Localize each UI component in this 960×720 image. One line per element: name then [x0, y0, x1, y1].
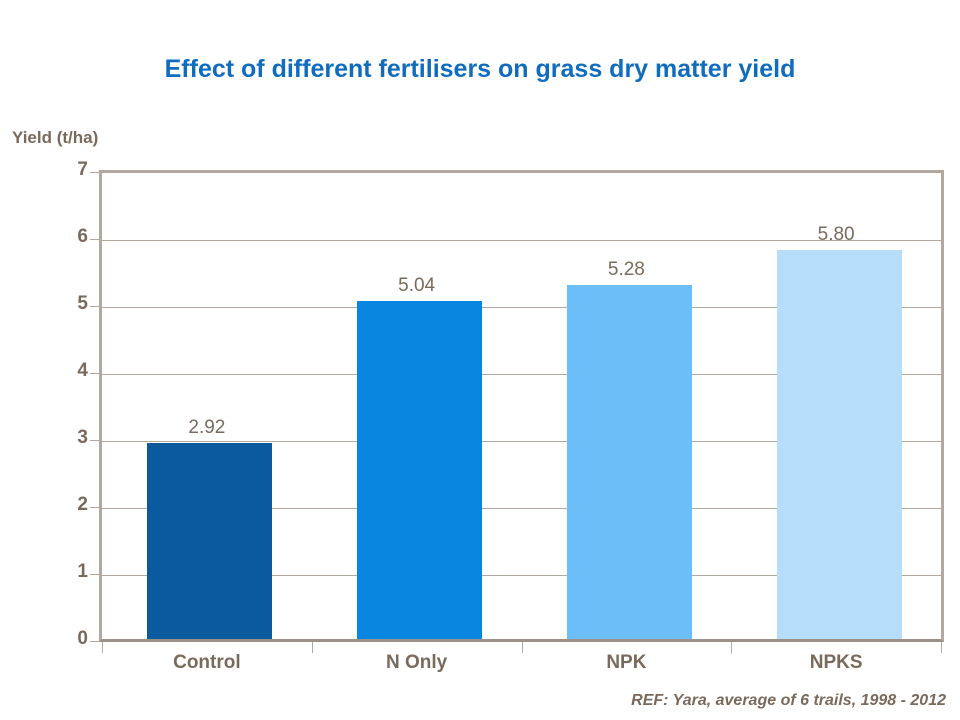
- bar[interactable]: [147, 443, 272, 639]
- y-axis-tick-mark: [90, 440, 99, 441]
- bar[interactable]: [357, 301, 482, 639]
- y-axis-tick-mark: [90, 172, 99, 173]
- y-axis-tick-mark: [90, 574, 99, 575]
- y-axis-tick-label: 3: [20, 427, 88, 449]
- y-axis-tick-mark: [90, 507, 99, 508]
- x-axis-label: N Only: [312, 652, 522, 674]
- y-axis-title: Yield (t/ha): [12, 128, 98, 148]
- y-axis-tick-label: 0: [20, 628, 88, 650]
- chart-title: Effect of different fertilisers on grass…: [0, 55, 960, 84]
- bar[interactable]: [777, 250, 902, 639]
- bar[interactable]: [567, 285, 692, 639]
- y-axis-tick-label: 7: [20, 159, 88, 181]
- y-axis-tick-label: 5: [20, 293, 88, 315]
- source-annotation: REF: Yara, average of 6 trails, 1998 - 2…: [631, 692, 946, 710]
- y-axis-tick-mark: [90, 373, 99, 374]
- x-axis-label: NPK: [522, 652, 732, 674]
- y-axis-tick-label: 6: [20, 226, 88, 248]
- y-axis-tick-label: 2: [20, 494, 88, 516]
- x-axis-tick-mark: [941, 642, 942, 653]
- x-axis-label: NPKS: [731, 652, 941, 674]
- bar-value-label: 5.80: [754, 224, 919, 246]
- x-axis-label: Control: [102, 652, 312, 674]
- y-axis-tick-label: 4: [20, 360, 88, 382]
- bar-value-label: 5.04: [334, 275, 499, 297]
- bar-chart: Effect of different fertilisers on grass…: [0, 0, 960, 720]
- y-axis-tick-label: 1: [20, 561, 88, 583]
- y-axis-tick-mark: [90, 239, 99, 240]
- bar-value-label: 5.28: [544, 259, 709, 281]
- bar-value-label: 2.92: [124, 417, 289, 439]
- y-axis-tick-mark: [90, 306, 99, 307]
- y-axis-tick-mark: [90, 641, 99, 642]
